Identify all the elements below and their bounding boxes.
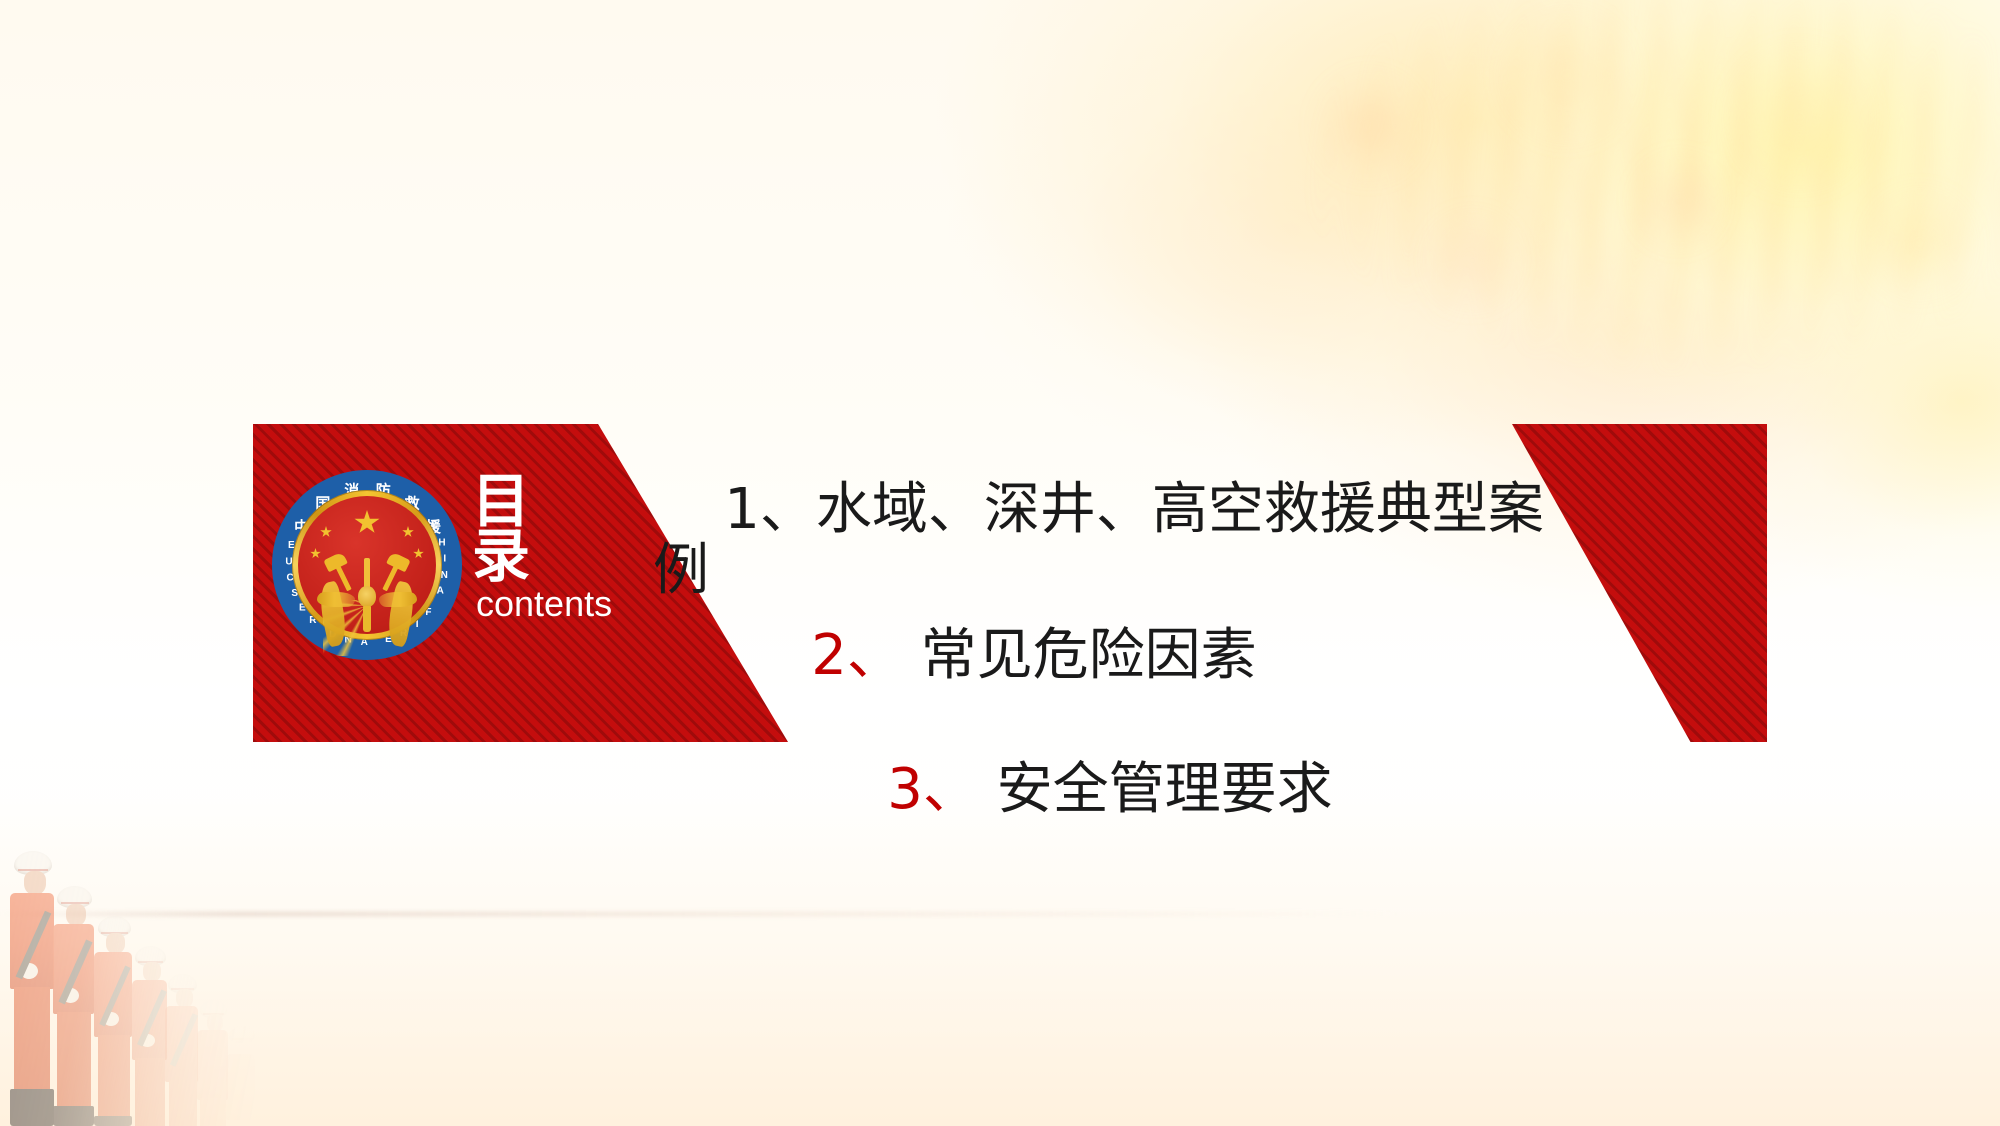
contents-cn-line-1: 目 — [472, 474, 632, 529]
toc-item-1-number: 1 — [724, 477, 760, 542]
face — [24, 871, 46, 895]
toc-item-1-separator: 、 — [760, 477, 816, 542]
wing-left — [317, 592, 355, 607]
emblem-star-small — [413, 548, 424, 559]
toc-item-3-number: 3 — [887, 757, 923, 822]
emblem-nozzle — [363, 606, 371, 632]
face — [106, 933, 125, 954]
contents-en-label: contents — [476, 586, 632, 622]
emblem-star-small — [310, 548, 321, 559]
emblem-star-small — [320, 526, 332, 538]
axe-icon-left — [331, 557, 351, 592]
toc-item-3[interactable]: 3、 安全管理要求 — [816, 700, 1616, 881]
horizon-line — [0, 912, 2000, 916]
flame-glow — [1180, 0, 2000, 420]
uniform-legs — [57, 1012, 91, 1108]
axe-icon-right — [382, 557, 402, 592]
toc-item-2-number: 2 — [811, 623, 847, 688]
contents-cn-line-2: 录 — [472, 529, 632, 584]
face — [66, 904, 86, 926]
emblem-center-medallion — [358, 586, 376, 607]
uniform-legs — [14, 987, 50, 1091]
wing-right — [379, 592, 417, 607]
emblem-inner-disc — [298, 496, 436, 634]
face — [143, 962, 161, 982]
emblem-star-large — [354, 510, 380, 535]
toc-item-3-separator: 、 — [923, 757, 979, 822]
uniform-torso — [226, 1054, 255, 1120]
firefighter-figure — [222, 926, 260, 1126]
helmet-icon — [229, 1026, 255, 1043]
emblem-star-small — [402, 526, 414, 538]
toc-item-2-label: 常见危险因素 — [903, 623, 1257, 688]
firefighter-formation-image — [0, 800, 300, 1126]
contents-label-block: 目 录 contents — [472, 474, 632, 622]
china-fire-and-rescue-emblem: 中 国 消 防 救 援 C H I N A F I R E A N D R E … — [272, 470, 462, 660]
agenda-slide: 中 国 消 防 救 援 C H I N A F I R E A N D R E … — [0, 0, 2000, 1126]
toc-item-3-label: 安全管理要求 — [979, 757, 1333, 822]
toc-item-2-separator: 、 — [847, 623, 903, 688]
